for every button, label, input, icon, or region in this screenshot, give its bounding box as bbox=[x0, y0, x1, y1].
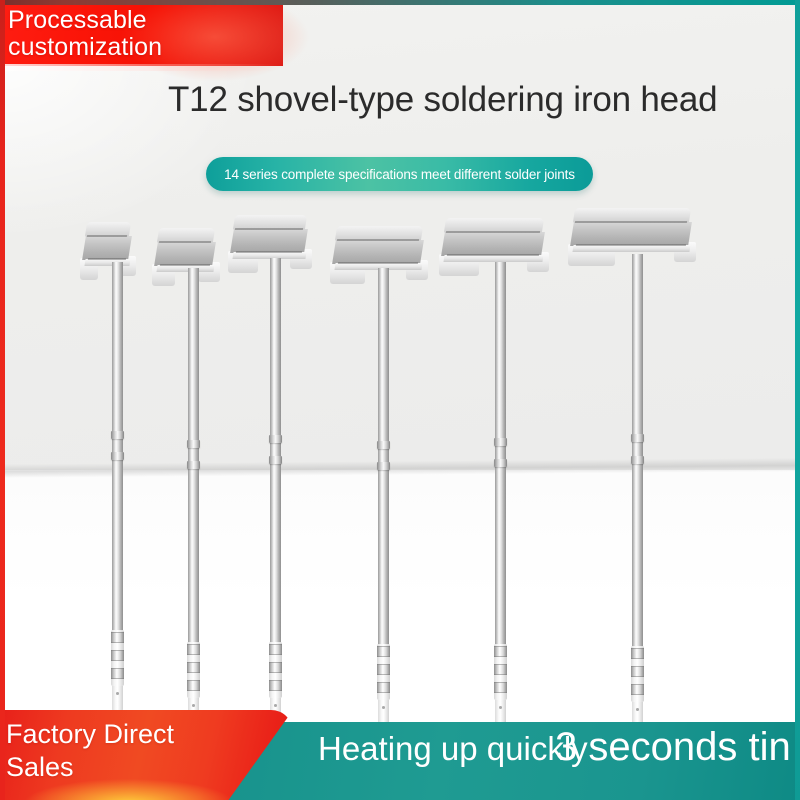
iron-shaft bbox=[112, 262, 123, 630]
specifications-pill: 14 series complete specifications meet d… bbox=[206, 157, 593, 191]
tip-blade-lip-line bbox=[447, 254, 539, 256]
tip-blade-lip-line bbox=[88, 258, 126, 260]
iron-contact-band-1 bbox=[631, 648, 644, 659]
frame-border-right bbox=[795, 0, 800, 800]
tip-blade-face bbox=[154, 242, 216, 266]
iron-tail-end bbox=[112, 686, 123, 712]
tip-blade-face bbox=[570, 222, 692, 246]
iron-contact-band-3 bbox=[494, 682, 507, 693]
iron-contact-band-2 bbox=[269, 662, 282, 673]
tip-blade-lip-line bbox=[160, 264, 210, 266]
product-poster: Processable customization T12 shovel-typ… bbox=[0, 0, 800, 800]
iron-contact-band-2 bbox=[111, 650, 124, 661]
iron-tail-notch bbox=[382, 706, 385, 709]
iron-contact-band-3 bbox=[377, 682, 390, 693]
tip-blade-edge-line bbox=[159, 241, 211, 243]
iron-shaft-joint-upper bbox=[187, 440, 200, 448]
ribbon-label: Processable customization bbox=[8, 7, 283, 61]
iron-shaft-joint-upper bbox=[631, 434, 644, 442]
tip-blade-lip-line bbox=[576, 244, 686, 246]
iron-shaft-joint-lower bbox=[187, 461, 200, 469]
frame-border-top bbox=[0, 0, 800, 5]
iron-contact-band-2 bbox=[187, 662, 200, 673]
iron-shaft bbox=[188, 268, 199, 642]
factory-direct-sales-label: Factory Direct Sales bbox=[6, 718, 256, 784]
iron-shaft-joint-upper bbox=[377, 441, 390, 449]
tip-blade-lip bbox=[84, 259, 130, 266]
tip-blade-edge-line bbox=[87, 235, 127, 237]
iron-shaft-joint-lower bbox=[377, 462, 390, 470]
tip-blade-lip bbox=[572, 245, 690, 252]
iron-shaft bbox=[495, 262, 506, 644]
iron-contact-band-3 bbox=[269, 680, 282, 691]
iron-contact-band-1 bbox=[494, 646, 507, 657]
iron-tail-notch bbox=[116, 692, 119, 695]
tip-blade-edge-line bbox=[446, 231, 540, 233]
tip-blade-lip-line bbox=[236, 251, 302, 253]
iron-shaft-joint-lower bbox=[111, 452, 124, 460]
tip-blade-face bbox=[332, 240, 424, 264]
tip-blade-edge-line bbox=[575, 221, 687, 223]
iron-tail-notch bbox=[192, 704, 195, 707]
tip-blade-edge-line bbox=[235, 228, 303, 230]
processable-customization-ribbon: Processable customization bbox=[0, 2, 283, 66]
iron-shaft-joint-upper bbox=[111, 431, 124, 439]
seconds-tin-label: 3 seconds tin bbox=[555, 723, 791, 771]
tip-blade-lip bbox=[443, 255, 543, 262]
iron-contact-band-3 bbox=[111, 668, 124, 679]
iron-contact-band-1 bbox=[269, 644, 282, 655]
tip-blade-face bbox=[82, 236, 132, 260]
iron-shaft bbox=[378, 268, 389, 644]
tip-blade-face bbox=[230, 229, 308, 253]
tip-blade-lip-line bbox=[338, 262, 418, 264]
iron-tail-notch bbox=[274, 704, 277, 707]
iron-tail-notch bbox=[499, 706, 502, 709]
tip-blade-face bbox=[441, 232, 545, 256]
tip-blade-edge-line bbox=[337, 239, 419, 241]
iron-contact-band-1 bbox=[111, 632, 124, 643]
frame-border-left bbox=[0, 0, 5, 800]
iron-contact-band-3 bbox=[187, 680, 200, 691]
iron-contact-band-2 bbox=[377, 664, 390, 675]
tip-blade-lip bbox=[156, 265, 214, 272]
iron-shaft bbox=[632, 254, 643, 646]
iron-contact-band-3 bbox=[631, 684, 644, 695]
iron-shaft-joint-lower bbox=[631, 456, 644, 464]
iron-shaft-joint-lower bbox=[494, 459, 507, 467]
specifications-pill-label: 14 series complete specifications meet d… bbox=[206, 157, 593, 191]
iron-shaft bbox=[270, 258, 281, 642]
iron-contact-band-1 bbox=[187, 644, 200, 655]
page-title: T12 shovel-type soldering iron head bbox=[168, 79, 792, 121]
iron-tail-notch bbox=[636, 708, 639, 711]
iron-shaft-joint-upper bbox=[269, 435, 282, 443]
iron-contact-band-1 bbox=[377, 646, 390, 657]
iron-contact-band-2 bbox=[631, 666, 644, 677]
iron-contact-band-2 bbox=[494, 664, 507, 675]
heating-speed-label: Heating up quickly bbox=[318, 729, 588, 769]
iron-shaft-joint-lower bbox=[269, 456, 282, 464]
iron-shaft-joint-upper bbox=[494, 438, 507, 446]
